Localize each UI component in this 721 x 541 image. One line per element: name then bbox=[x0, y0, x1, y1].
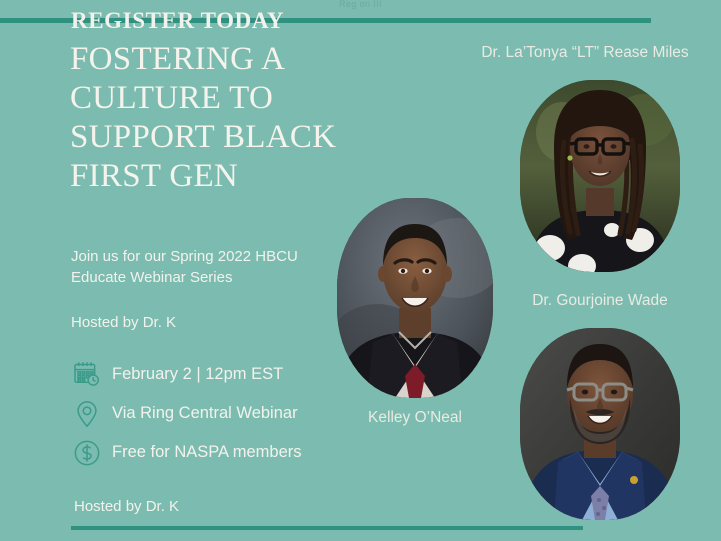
speaker-name-lt-rease-miles: Dr. La’Tonya “LT” Rease Miles bbox=[452, 44, 718, 62]
dollar-circle-icon bbox=[70, 436, 104, 470]
page-title: Fostering a Culture to Support Black Fir… bbox=[70, 40, 370, 196]
webinar-flyer: Reg on III REGISTER TODAY Fostering a Cu… bbox=[0, 0, 721, 541]
detail-row-date: February 2 | 12pm EST bbox=[70, 355, 302, 394]
detail-text-location: Via Ring Central Webinar bbox=[112, 404, 298, 423]
eyebrow-register-today: REGISTER TODAY bbox=[71, 8, 284, 34]
headshot-lt-rease-miles bbox=[520, 80, 680, 272]
speaker-name-gourjoine-wade: Dr. Gourjoine Wade bbox=[497, 292, 703, 310]
location-pin-icon bbox=[70, 397, 104, 431]
detail-text-price: Free for NASPA members bbox=[112, 443, 302, 462]
bottom-accent-rule bbox=[71, 526, 583, 530]
detail-row-price: Free for NASPA members bbox=[70, 433, 302, 472]
headshot-kelley-oneal bbox=[337, 198, 493, 398]
hosted-by-bottom: Hosted by Dr. K bbox=[74, 498, 179, 515]
detail-text-date: February 2 | 12pm EST bbox=[112, 365, 283, 384]
calendar-clock-icon bbox=[70, 358, 104, 392]
subcopy-series-description: Join us for our Spring 2022 HBCU Educate… bbox=[71, 246, 329, 289]
headshot-gourjoine-wade bbox=[520, 328, 680, 520]
speaker-name-kelley-oneal: Kelley O’Neal bbox=[330, 409, 500, 427]
detail-row-location: Via Ring Central Webinar bbox=[70, 394, 302, 433]
hosted-by-middle: Hosted by Dr. K bbox=[71, 314, 176, 331]
event-details-list: February 2 | 12pm EST Via Ring Central W… bbox=[70, 355, 302, 472]
